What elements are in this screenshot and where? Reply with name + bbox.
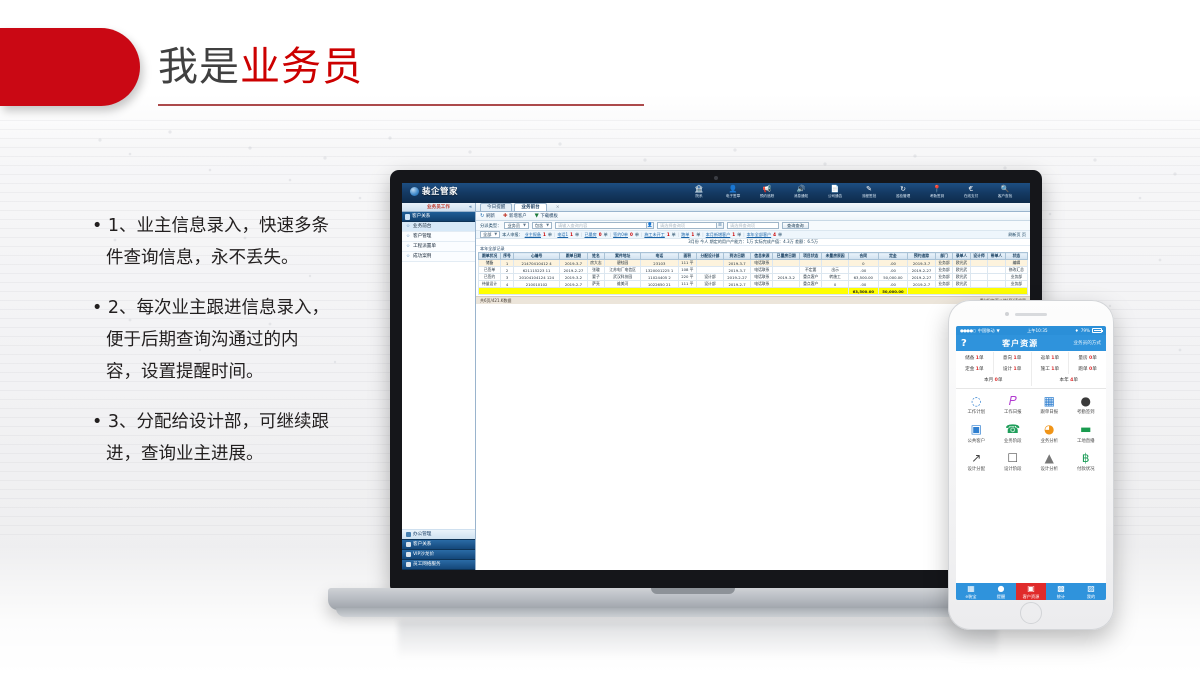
stat-label: 量房 <box>1078 356 1087 361</box>
sidebar-group-customer-relations[interactable]: 客户关系 <box>402 212 475 222</box>
cell: 2 <box>501 267 514 274</box>
th-9[interactable]: 到访日期 <box>723 253 751 260</box>
stat-unit: 单 <box>1092 356 1097 361</box>
th-7[interactable]: 面积 <box>678 253 697 260</box>
cell: 111 平 <box>678 260 697 267</box>
toolbar-label-2: 下载模板 <box>540 213 558 219</box>
wifi-icon: ▼ <box>997 328 1000 333</box>
quick-unit-2: 单 <box>604 232 608 238</box>
stat-deposit[interactable]: 定金 1单 <box>956 363 994 374</box>
cell[interactable]: 业务部 <box>1005 274 1027 281</box>
table-container: 跟单状况 序号 心编号 跟单日期 姓名 案件地址 电话 面积 分配设计部 <box>476 252 1030 295</box>
tab-customer-resources[interactable]: ▣客户资源 <box>1016 583 1046 600</box>
grid-item-design-allocation[interactable]: ↗设计分配 <box>958 451 995 473</box>
quick-unit-1: 单 <box>575 232 579 238</box>
location-pin-icon: ● <box>1068 394 1105 408</box>
cell: 11024405 2 <box>641 274 678 281</box>
phone-stats-row-totals: 本月 0单 本年 4单 <box>956 374 1106 385</box>
cell <box>988 260 1005 267</box>
sidebar-item-label-1: 客户管理 <box>413 234 431 239</box>
stat-lost[interactable]: 跑单 0单 <box>1069 363 1106 374</box>
trend-up-icon: ↗ <box>958 451 995 465</box>
speaker-icon: 🔊 <box>784 185 818 193</box>
page-title: 我是业务员 <box>158 40 363 94</box>
cell: .00 <box>878 260 908 267</box>
folder-icon <box>405 214 410 220</box>
separator: | <box>702 232 703 237</box>
main-panel: 今日提醒 业务前台 × ↻刷新 ✚新增客户 ▼下载模板 分派类型： 业务员▼ <box>476 203 1030 570</box>
quick-filter-bar: 全部▼ 本人申报： 业主报备1单| 电话11单| 已量房0单| 签约0单0单| … <box>476 231 1030 239</box>
phone-grid-row-1: ◌工作计划 𝛲工作日报 ▦跟单日报 ●考勤签到 <box>958 394 1104 416</box>
topnav-item-4[interactable]: 📄公司通告 <box>818 184 852 199</box>
app-logo-text: 装企管家 <box>422 185 458 197</box>
quick-link-label-1: 电话1 <box>557 232 568 237</box>
cell: 621115223 11 <box>513 267 559 274</box>
grid-label: 付款状况 <box>1068 466 1105 472</box>
production-summary: 3月份 今人 期定的用户产能力：1万 实际完成产值：4.3万 差额：6.5万 <box>476 239 1030 246</box>
tab-label: 客户资源 <box>1023 594 1040 600</box>
laptop-lid: 装企管家 🏦院系 👤电子签章 📢预约追踪 🔊消息通知 📄公司通告 ✎流程签批 ↻… <box>390 170 1042 590</box>
quick-num-2: 0 <box>599 232 602 237</box>
toolbar-label-0: 刷新 <box>486 213 495 219</box>
cell: 转施工 <box>822 274 849 281</box>
cell: 210010102 <box>513 281 559 288</box>
grid-label: 工地直播 <box>1068 438 1105 444</box>
cell[interactable]: 2019-3-2 <box>560 274 588 281</box>
quick-num-1: 1 <box>570 232 573 237</box>
sidebar-item-success-cases[interactable]: ☆成功案例 <box>402 252 475 262</box>
th-6[interactable]: 电话 <box>641 253 678 260</box>
grid-item-design-stage[interactable]: ☐设计阶段 <box>995 451 1032 473</box>
stat-label: 跑单 <box>1078 367 1087 372</box>
topnav-item-1[interactable]: 👤电子签章 <box>716 184 750 199</box>
topnav-item-0[interactable]: 🏦院系 <box>682 184 716 199</box>
laptop-reflection <box>398 620 998 660</box>
stat-return[interactable]: 返单 1单 <box>1032 352 1070 363</box>
tab-ezhuangbao[interactable]: ▦e装宝 <box>956 583 986 600</box>
cell[interactable]: 2019-2-7 <box>560 281 588 288</box>
stat-this-year[interactable]: 本年 4单 <box>1032 374 1107 385</box>
download-icon: ▼ <box>535 213 539 219</box>
cell: .00 <box>878 267 908 274</box>
quick-unit-3: 单 <box>635 232 639 238</box>
topnav-item-5[interactable]: ✎流程签批 <box>852 184 886 199</box>
star-icon: ☆ <box>406 232 410 242</box>
grid-label: 设计分配 <box>958 466 995 472</box>
quick-num-7: 4 <box>773 232 776 237</box>
th-21[interactable]: 状态 <box>1005 253 1027 260</box>
quick-link-4[interactable]: 施工未开工 <box>644 232 664 238</box>
stat-label: 意向 <box>1003 356 1012 361</box>
cell[interactable]: 修改汇总 <box>1005 267 1027 274</box>
plus-icon: ✚ <box>503 213 508 219</box>
grid-item-work-plan[interactable]: ◌工作计划 <box>958 394 995 416</box>
th-18[interactable]: 录单人 <box>953 253 970 260</box>
th-4[interactable]: 姓名 <box>587 253 604 260</box>
grid-label: 公共客户 <box>958 438 995 444</box>
bullet-list: • 1、业主信息录入，快速多条件查询信息，永不丢失。 • 2、每次业主跟进信息录… <box>92 210 332 488</box>
grid-item-public-customers[interactable]: ▣公共客户 <box>958 422 995 444</box>
cell: 220 平 <box>678 274 697 281</box>
cell <box>773 260 800 267</box>
cell: 23103 <box>641 260 678 267</box>
cell: 设计部 <box>697 281 724 288</box>
th-2[interactable]: 心编号 <box>513 253 559 260</box>
cell: 2019-2-27 <box>908 267 936 274</box>
user-card-icon: 👤 <box>716 185 750 193</box>
refresh-button[interactable]: ↻刷新 <box>480 213 495 219</box>
quick-link-0[interactable]: 业主报备 <box>525 232 541 238</box>
list-search-icon[interactable]: ☰ <box>717 222 724 228</box>
quick-link-label-0: 业主报备 <box>525 232 541 237</box>
sidebar-item-label-0: 业务前台 <box>413 224 431 229</box>
stat-unit: 单 <box>998 378 1003 383</box>
cell: 欧光武 <box>953 267 970 274</box>
sidebar-item-vip-salon[interactable]: VIP沙龙价 <box>402 550 475 560</box>
chevron-down-icon: ▼ <box>494 232 497 236</box>
stat-unit: 单 <box>1092 367 1097 372</box>
cell <box>773 281 800 288</box>
toolbar: ↻刷新 ✚新增客户 ▼下载模板 <box>476 212 1030 221</box>
tab-profile[interactable]: ▨我的 <box>1076 583 1106 600</box>
app-body: 业务员工作 « 客户关系 ☆业务前台 ☆客户管理 ☆工程派置单 ☆成功案例 <box>402 203 1030 570</box>
table-row[interactable]: 待量设计 4 210010102 2019-2-7 萨亮 维美河 1022650… <box>479 281 1028 288</box>
cell <box>773 267 800 274</box>
stat-label: 本月 <box>984 378 993 383</box>
grid-label: 业务阶段 <box>995 438 1032 444</box>
app-logo: 装企管家 <box>410 185 458 197</box>
th-17[interactable]: 部门 <box>935 253 952 260</box>
cell: 电话联系 <box>751 274 773 281</box>
quick-link-label-7: 本年全部客户 <box>747 232 772 237</box>
quick-link-6[interactable]: 本月新增客户 <box>706 232 731 238</box>
grid-item-site-live[interactable]: ▬工地直播 <box>1068 422 1105 444</box>
topnav-item-2[interactable]: 📢预约追踪 <box>750 184 784 199</box>
sidebar-filler <box>402 262 475 530</box>
doc-icon: 📄 <box>818 185 852 193</box>
th-13[interactable]: 未量房原因 <box>822 253 849 260</box>
quick-link-3[interactable]: 签约0单 <box>613 232 628 238</box>
cell: 4 <box>501 281 514 288</box>
topnav-item-7[interactable]: 📍考勤签到 <box>920 184 954 199</box>
star-icon: ☆ <box>406 252 410 262</box>
filter-select-match-value: 包含 <box>535 223 543 229</box>
stat-label: 定金 <box>965 367 974 372</box>
megaphone-icon: 📢 <box>750 185 784 193</box>
signal-dots-icon: ●●●●○ <box>960 328 976 333</box>
grid-item-work-report[interactable]: 𝛲工作日报 <box>995 394 1032 416</box>
grid-item-business-stage[interactable]: ☎业务阶段 <box>995 422 1032 444</box>
chevron-left-icon[interactable]: « <box>469 203 472 212</box>
phone-call-icon: ☎ <box>995 422 1032 436</box>
separator: | <box>610 232 611 237</box>
bitcoin-icon: ฿ <box>1068 451 1105 465</box>
chevron-down-icon: ▼ <box>546 223 549 227</box>
quick-num-6: 1 <box>732 232 735 237</box>
sidebar-item-label-2: 工程派置单 <box>413 244 436 249</box>
cell: 张璇 <box>587 267 604 274</box>
cell: 1 <box>501 260 514 267</box>
topnav-label-0: 院系 <box>695 194 702 198</box>
quick-num-3: 0 <box>630 232 633 237</box>
stat-construction[interactable]: 施工 1单 <box>1032 363 1070 374</box>
tab-reminders[interactable]: ●提醒 <box>986 583 1016 600</box>
profile-icon: ▨ <box>1087 584 1095 593</box>
cell: 电话联系 <box>751 281 773 288</box>
cell: 111 平 <box>678 281 697 288</box>
grid-item-attendance[interactable]: ●考勤签到 <box>1068 394 1105 416</box>
topnav-label-3: 消息通知 <box>794 194 808 198</box>
total-spacer <box>479 288 849 295</box>
th-3[interactable]: 跟单日期 <box>560 253 588 260</box>
th-19[interactable]: 设计师 <box>970 253 987 260</box>
cell: .00 <box>878 281 908 288</box>
table-total-row: 63,500.00 50,000.00 <box>479 288 1028 295</box>
tab-business-front[interactable]: 业务前台 <box>514 203 546 211</box>
table-row[interactable]: 已签单 2 621115223 11 2019-2-27 张璇 江苏电厂电信区 … <box>479 267 1028 274</box>
cell: 待量设计 <box>479 281 501 288</box>
sidebar-item-customer-relations-2[interactable]: 客户关系 <box>402 540 475 550</box>
add-customer-button[interactable]: ✚新增客户 <box>503 213 527 219</box>
sidebar-item-customer-mgmt[interactable]: ☆客户管理 <box>402 232 475 242</box>
title-underline <box>158 104 644 106</box>
sidebar-item-staff-network[interactable]: 员工网络服务 <box>402 560 475 570</box>
stat-label: 本年 <box>1060 378 1069 383</box>
edit-square-icon: ☐ <box>995 451 1032 465</box>
th-10[interactable]: 信息来源 <box>751 253 773 260</box>
topnav-item-9[interactable]: 🔍客户查找 <box>988 184 1022 199</box>
th-16[interactable]: 预约追踪 <box>908 253 936 260</box>
quick-link-label-3: 签约0单 <box>613 232 628 237</box>
pie-chart-icon: ◕ <box>1031 422 1068 436</box>
stat-design[interactable]: 设计 1单 <box>994 363 1032 374</box>
cell: 重点客户 <box>800 281 822 288</box>
filter-select-match[interactable]: 包含▼ <box>532 222 552 228</box>
top-navigation: 🏦院系 👤电子签章 📢预约追踪 🔊消息通知 📄公司通告 ✎流程签批 ↻巡检管理 … <box>682 184 1022 199</box>
stat-intent[interactable]: 意向 1单 <box>994 352 1032 363</box>
phone-header: ? 客户资源 业务员的方式 <box>956 335 1106 351</box>
bullet-item-1: • 1、业主信息录入，快速多条件查询信息，永不丢失。 <box>92 210 332 274</box>
sidebar: 业务员工作 « 客户关系 ☆业务前台 ☆客户管理 ☆工程派置单 ☆成功案例 <box>402 203 476 570</box>
topnav-label-6: 巡检管理 <box>896 194 910 198</box>
qr-icon: ▦ <box>967 584 975 593</box>
status-time: 上午10:35 <box>1027 328 1047 334</box>
grid-item-design-analysis[interactable]: ▲设计分析 <box>1031 451 1068 473</box>
sidebar-item-project-dispatch[interactable]: ☆工程派置单 <box>402 242 475 252</box>
tab-strip: 今日提醒 业务前台 × <box>476 203 1030 212</box>
quick-link-1[interactable]: 电话1 <box>557 232 568 238</box>
customer-icon: ▣ <box>1027 584 1035 593</box>
stat-this-month[interactable]: 本月 0单 <box>956 374 1032 385</box>
cell: 不定要 <box>800 267 822 274</box>
area-chart-icon: ▲ <box>1031 451 1068 465</box>
stat-unit: 单 <box>1017 367 1022 372</box>
cell[interactable]: 业务部 <box>1005 281 1027 288</box>
tab-statistics[interactable]: ▩统计 <box>1046 583 1076 600</box>
cell: 1022650 21 <box>641 281 678 288</box>
tab-label: 我的 <box>1087 594 1095 600</box>
phone-home-button[interactable] <box>1020 602 1042 624</box>
customer-table: 跟单状况 序号 心编号 跟单日期 姓名 案件地址 电话 面积 分配设计部 <box>478 252 1028 295</box>
cell: 要子 <box>587 274 604 281</box>
page-title-plain: 我是 <box>158 44 240 90</box>
table-row[interactable]: 储备 1 21470410412 4 2019-3-7 房大志 碧桂园 2310… <box>479 260 1028 267</box>
th-15[interactable]: 定金 <box>878 253 908 260</box>
topnav-item-3[interactable]: 🔊消息通知 <box>784 184 818 199</box>
quick-link-label-6: 本月新增客户 <box>706 232 731 237</box>
stat-reserve[interactable]: 储备 1单 <box>956 352 994 363</box>
search-input-secondary[interactable]: 请选择查询项 <box>657 222 717 228</box>
grid-label: 业务分析 <box>1031 438 1068 444</box>
filter-select-role[interactable]: 业务员▼ <box>504 222 528 228</box>
carrier-label: 中国移动 <box>978 328 995 334</box>
cell: 储备 <box>479 260 501 267</box>
quickbar-scope-select[interactable]: 全部▼ <box>480 231 500 237</box>
main-filler <box>476 304 1030 570</box>
cell: 3 <box>501 274 514 281</box>
cell: 已签约 <box>479 274 501 281</box>
sidebar-item-office-mgmt[interactable]: 办公管理 <box>402 530 475 540</box>
cell: 欧光武 <box>953 281 970 288</box>
cell: 2019-3-7 <box>723 267 751 274</box>
cell: 20104104124 124 <box>513 274 559 281</box>
grid-item-payment-status[interactable]: ฿付款状况 <box>1068 451 1105 473</box>
stat-unit: 单 <box>1055 356 1060 361</box>
tab-today-reminders[interactable]: 今日提醒 <box>480 203 512 211</box>
topnav-item-8[interactable]: €在线支付 <box>954 184 988 199</box>
cell <box>988 274 1005 281</box>
cell[interactable]: 编辑 <box>1005 260 1027 267</box>
phone-grid-row-2: ▣公共客户 ☎业务阶段 ◕业务分析 ▬工地直播 <box>958 422 1104 444</box>
bell-chat-icon: ● <box>998 584 1005 593</box>
cell: 电话联系 <box>751 260 773 267</box>
euro-icon: € <box>954 185 988 193</box>
cell: 2019-2-7 <box>723 281 751 288</box>
quick-link-2[interactable]: 已量房 <box>584 232 596 238</box>
question-icon[interactable]: ? <box>961 338 967 349</box>
red-accent-tab <box>0 28 140 106</box>
grid-item-business-analysis[interactable]: ◕业务分析 <box>1031 422 1068 444</box>
total-deposit: 50,000.00 <box>878 288 908 295</box>
cell: 1320001225 1 <box>641 267 678 274</box>
th-1[interactable]: 序号 <box>501 253 514 260</box>
filter-bar: 分派类型： 业务员▼ 包含▼ 请输入查询内容 👤 请选择查询项 ☰ <box>476 221 1030 231</box>
quick-unit-4: 单 <box>672 232 676 238</box>
quick-link-label-5: 跑单 <box>681 232 689 237</box>
quick-link-5[interactable]: 跑单 <box>681 232 689 238</box>
th-14[interactable]: 合同 <box>848 253 878 260</box>
cell <box>988 267 1005 274</box>
phone-header-right-label[interactable]: 业务员的方式 <box>1073 340 1101 346</box>
topnav-label-7: 考勤签到 <box>930 194 944 198</box>
th-11[interactable]: 已量房日期 <box>773 253 800 260</box>
quick-link-label-4: 施工未开工 <box>644 232 664 237</box>
cell: 108 平 <box>678 267 697 274</box>
report-doc-icon: ▦ <box>1031 394 1068 408</box>
search-input-tertiary[interactable]: 请选择查询项 <box>727 222 779 228</box>
th-20[interactable]: 带单人 <box>988 253 1005 260</box>
cell: 已签单 <box>479 267 501 274</box>
th-12[interactable]: 项目状态 <box>800 253 822 260</box>
bluetooth-icon: ♦ <box>1075 328 1079 333</box>
chart-bar-icon: ▩ <box>1057 584 1065 593</box>
th-0[interactable]: 跟单状况 <box>479 253 501 260</box>
cell[interactable]: 2019-3-7 <box>560 260 588 267</box>
download-template-button[interactable]: ▼下载模板 <box>535 213 558 219</box>
search-input-keyword[interactable]: 请输入查询内容 <box>555 222 647 228</box>
cell: 63,500.00 <box>848 274 878 281</box>
quick-num-4: 1 <box>667 232 670 237</box>
stat-label: 设计 <box>1003 367 1012 372</box>
customer-icon <box>406 542 411 547</box>
search-button[interactable]: 查询查询 <box>782 222 809 229</box>
star-icon: ☆ <box>406 242 410 252</box>
grid-label: 设计阶段 <box>995 466 1032 472</box>
topnav-label-2: 预约追踪 <box>760 194 774 198</box>
status-left: 共6页/421.K数据 <box>480 298 511 304</box>
cell: .00 <box>848 267 878 274</box>
battery-icon <box>1092 328 1102 333</box>
grid-label: 跟单日报 <box>1031 409 1068 415</box>
quickbar-tail[interactable]: 刷新页 页 <box>1008 232 1026 238</box>
pin-icon: 📍 <box>920 185 954 193</box>
quick-link-7[interactable]: 本年全部客户 <box>747 232 772 238</box>
filter-label: 分派类型： <box>480 223 501 229</box>
pen-icon: ✎ <box>852 185 886 193</box>
quick-unit-0: 单 <box>548 232 552 238</box>
cell: 维美河 <box>605 281 641 288</box>
sidebar-item-label-3: 成功案例 <box>413 254 431 259</box>
cell[interactable]: 2019-2-27 <box>560 267 588 274</box>
cell: 0 <box>848 260 878 267</box>
cell <box>822 260 849 267</box>
word-doc-icon: 𝛲 <box>995 394 1032 408</box>
topnav-label-5: 流程签批 <box>862 194 876 198</box>
table-row[interactable]: 已签约 3 20104104124 124 2019-3-2 要子 武汉科技园 … <box>479 274 1028 281</box>
stat-unit: 单 <box>979 356 984 361</box>
phone-mockup: ●●●●○ 中国移动 ▼ 上午10:35 ♦ 79% ? 客户资源 业务员的方式… <box>948 300 1114 630</box>
topnav-item-6[interactable]: ↻巡检管理 <box>886 184 920 199</box>
stat-measure[interactable]: 量房 0单 <box>1069 352 1106 363</box>
cell: 业务部 <box>935 274 952 281</box>
phone-stats-row-2: 定金 1单 设计 1单 施工 1单 跑单 0单 <box>956 363 1106 374</box>
status-right-group: ♦ 79% <box>1075 328 1102 333</box>
cell <box>800 260 822 267</box>
check-icon <box>406 562 411 567</box>
th-8[interactable]: 分配设计部 <box>697 253 724 260</box>
grid-item-follow-report[interactable]: ▦跟单日报 <box>1031 394 1068 416</box>
phone-tab-bar: ▦e装宝 ●提醒 ▣客户资源 ▩统计 ▨我的 <box>956 583 1106 600</box>
stat-unit: 单 <box>979 367 984 372</box>
cell: 碧桂园 <box>605 260 641 267</box>
separator: | <box>581 232 582 237</box>
cell: 萨亮 <box>587 281 604 288</box>
sidebar-item-business-front[interactable]: ☆业务前台 <box>402 222 475 232</box>
person-search-icon[interactable]: 👤 <box>647 222 654 228</box>
th-5[interactable]: 案件地址 <box>605 253 641 260</box>
tab-close-icon[interactable]: × <box>549 203 567 211</box>
grid-label: 工作计划 <box>958 409 995 415</box>
cell: 重点客户 <box>800 274 822 281</box>
vip-icon <box>406 552 411 557</box>
separator: | <box>554 232 555 237</box>
search-icon: 🔍 <box>988 185 1022 193</box>
tab-label: 提醒 <box>997 594 1005 600</box>
cell: .00 <box>848 281 878 288</box>
cell <box>970 260 987 267</box>
toolbar-label-1: 新增客户 <box>509 213 527 219</box>
cell: 2019-2-7 <box>908 281 936 288</box>
